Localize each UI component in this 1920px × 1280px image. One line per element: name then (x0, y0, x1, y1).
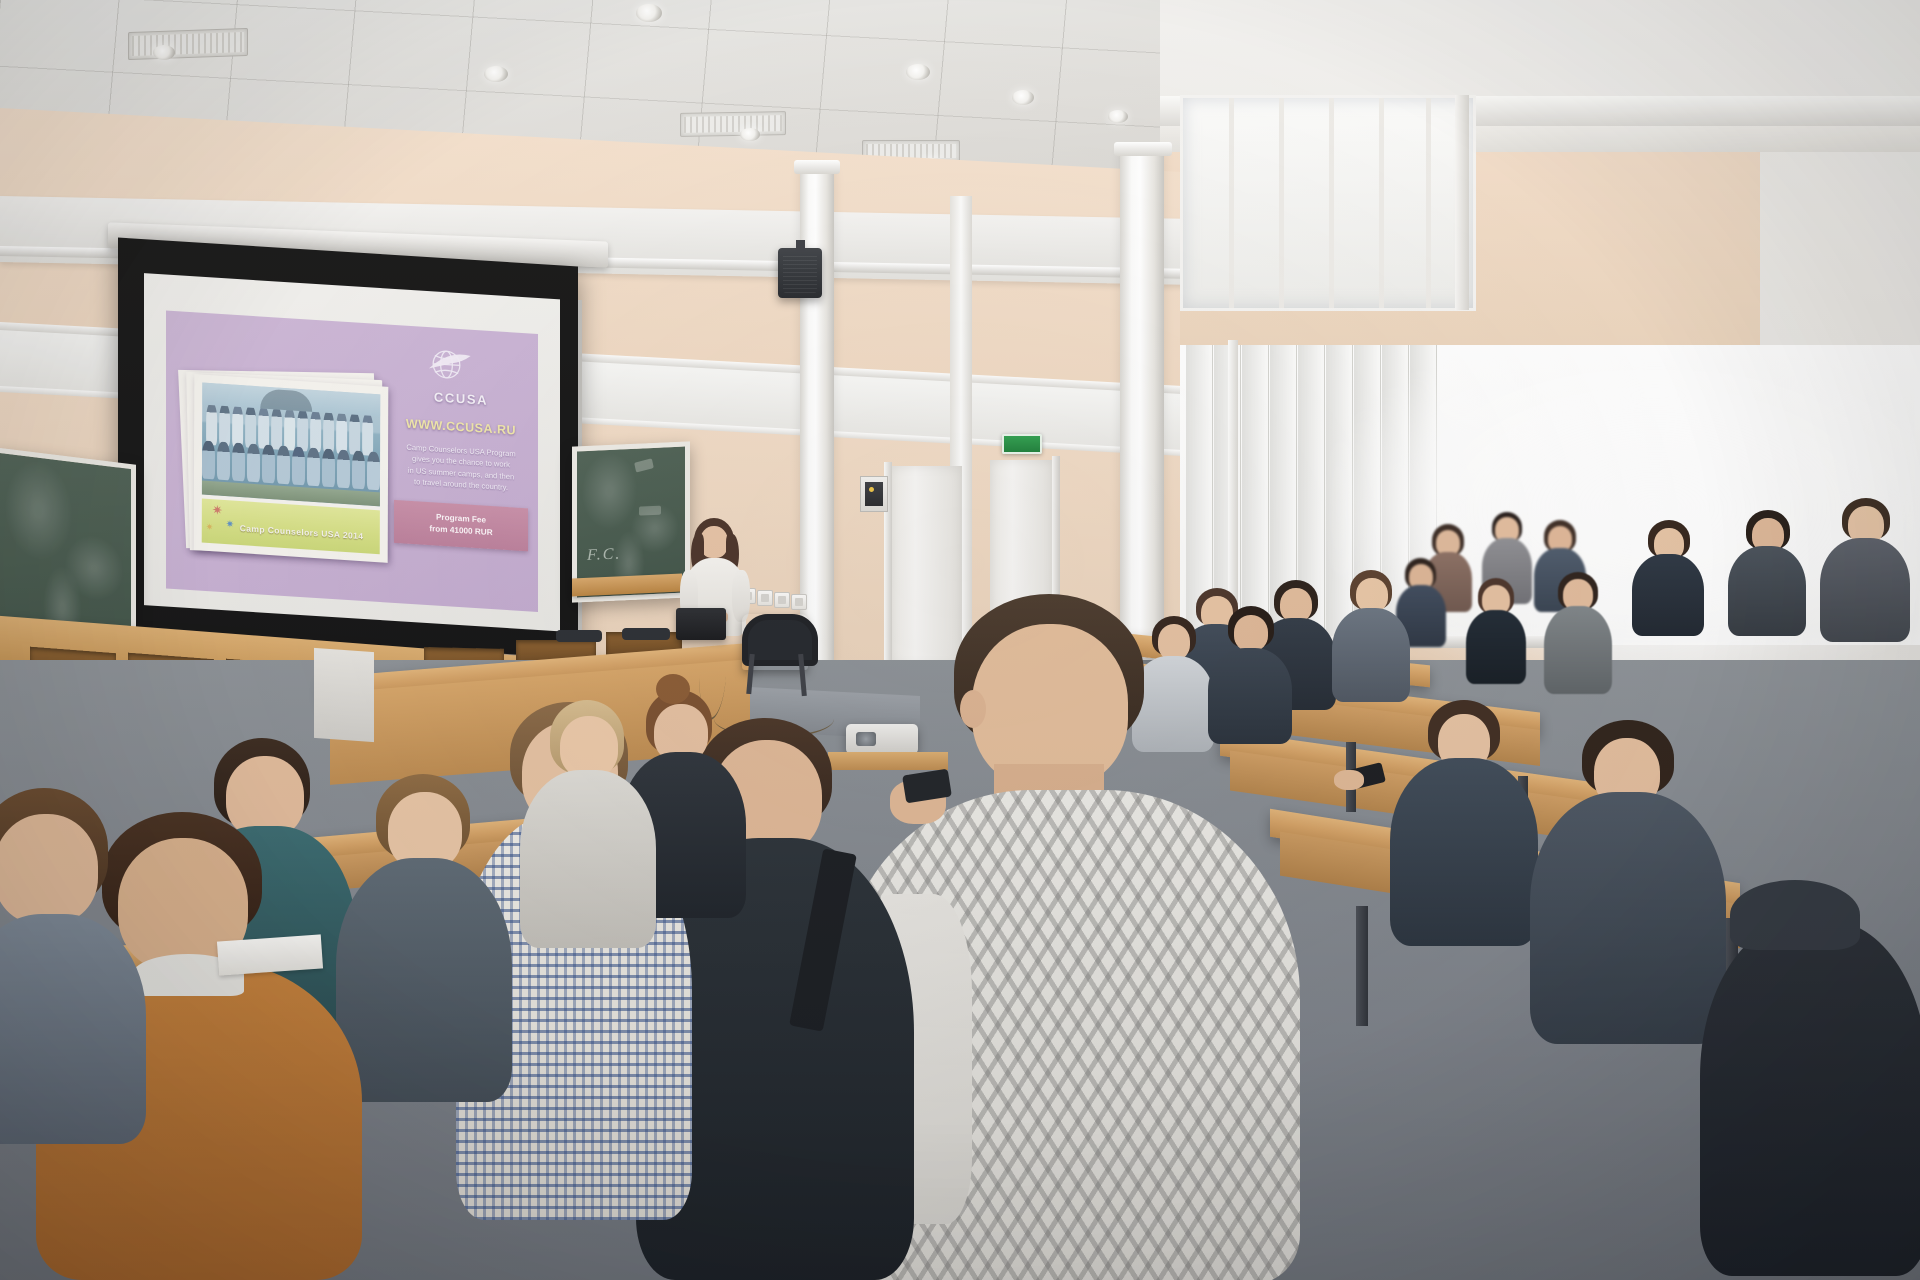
chalk-mark (639, 506, 661, 516)
slide-text-column: CCUSA WWW.CCUSA.RU Camp Counselors USA P… (388, 339, 534, 552)
audience-member (1630, 520, 1708, 640)
audience-member (1390, 700, 1540, 950)
chair-seat (622, 628, 670, 640)
audience-torso (1820, 538, 1910, 642)
ceiling-light-icon (906, 64, 930, 80)
projection-screen: ✷ ✷ ✷ Camp Counselors USA 2014 (118, 238, 578, 659)
star-icon: ✷ (226, 520, 234, 531)
audience-member (1818, 498, 1914, 648)
audience-ear-icon (960, 690, 986, 728)
program-fee-box: Program Fee from 41000 RUR (394, 499, 528, 551)
photo-caption-band: ✷ ✷ ✷ Camp Counselors USA 2014 (202, 498, 380, 554)
ceiling-light-icon (484, 66, 508, 82)
slide-url-text: WWW.CCUSA.RU (388, 416, 534, 439)
group-photo (202, 383, 380, 507)
ponytail (656, 674, 690, 704)
chalkboard-writing: F.C. (587, 545, 621, 565)
ccusa-logo-text: CCUSA (388, 387, 534, 411)
audience-member (1700, 880, 1920, 1280)
audience-member (1330, 570, 1412, 706)
column-left-capital (794, 160, 840, 174)
photo-front: ✷ ✷ ✷ Camp Counselors USA 2014 (194, 374, 389, 563)
screen-surface: ✷ ✷ ✷ Camp Counselors USA 2014 (144, 273, 560, 631)
presentation-slide: ✷ ✷ ✷ Camp Counselors USA 2014 (166, 311, 538, 612)
wall-speaker-icon (778, 248, 822, 298)
audience-torso (1390, 758, 1538, 946)
audience-torso (1544, 606, 1612, 694)
wall-socket[interactable] (774, 592, 790, 608)
audience-member (1540, 572, 1616, 700)
audience-member (520, 700, 660, 950)
audience-head (1356, 578, 1388, 612)
presenter-head (700, 526, 728, 558)
slide-body-text: Camp Counselors USA Program gives you th… (388, 441, 534, 496)
panel-led-icon (869, 487, 874, 492)
audience-head (0, 814, 98, 924)
audience-torso (1466, 610, 1526, 684)
ceiling-light-icon (153, 45, 175, 60)
audience-hood (1730, 880, 1860, 950)
audience-torso (0, 914, 146, 1144)
paper-sheet (217, 934, 323, 975)
window-frame-vertical (1455, 95, 1469, 310)
electrical-panel-icon (860, 476, 888, 512)
lecture-hall-photo: ✷ ✷ ✷ Camp Counselors USA 2014 (0, 0, 1920, 1280)
chair-seat (556, 630, 602, 642)
star-icon: ✷ (212, 503, 223, 517)
wall-socket[interactable] (791, 594, 807, 610)
audience-torso (1728, 546, 1806, 636)
audience-torso (520, 770, 656, 948)
column-right-capital (1114, 142, 1172, 156)
globe-logo-icon (424, 343, 474, 390)
ceiling-light-icon (740, 128, 760, 141)
ceiling-vent-icon (128, 28, 248, 60)
photo-caption-text: Camp Counselors USA 2014 (240, 523, 364, 541)
audience-torso (1632, 554, 1704, 636)
ceiling-light-icon (1108, 110, 1128, 123)
audience-member (1462, 578, 1530, 688)
audience-head (560, 716, 618, 778)
audience-torso (1530, 792, 1726, 1044)
column-left (800, 168, 834, 668)
speaker-bracket (796, 240, 805, 252)
ceiling-light-icon (636, 4, 662, 22)
bench-desk-leg (1356, 906, 1368, 1026)
ceiling-light-icon (1012, 90, 1034, 105)
clerestory-window (1180, 95, 1476, 311)
audience-hand (1334, 770, 1364, 790)
audience-torso (1332, 608, 1410, 702)
audience-member-foreground (0, 788, 150, 1148)
cabinet-front (314, 648, 374, 742)
exit-sign-icon (1002, 434, 1042, 454)
star-icon: ✷ (206, 523, 214, 532)
ceiling-vent-icon (680, 111, 786, 137)
audience-torso (1700, 920, 1920, 1276)
audience-member (1726, 510, 1810, 640)
